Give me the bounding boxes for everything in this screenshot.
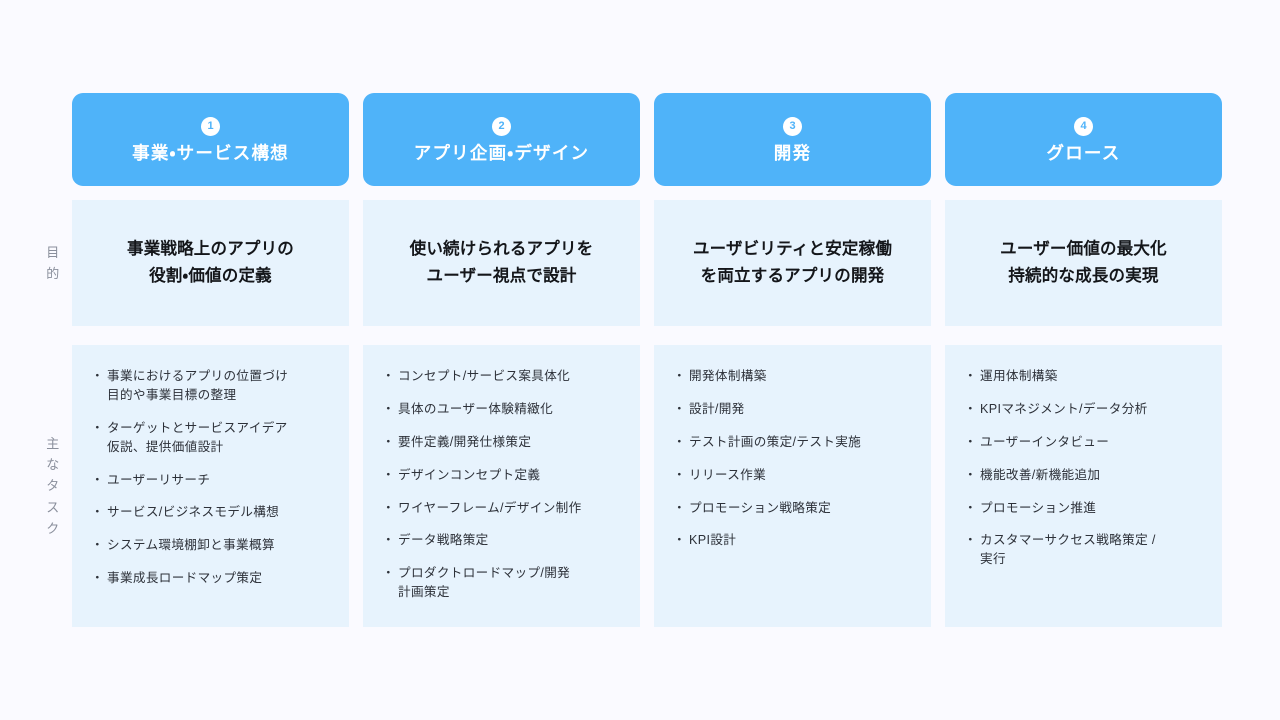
- phase-column-3: 3 開発 ユーザビリティと安定稼働 を両立するアプリの開発 開発体制構築 設計/…: [654, 0, 931, 720]
- tasks-panel-4: 運用体制構築 KPIマネジメント/データ分析 ユーザーインタビュー 機能改善/新…: [945, 345, 1222, 627]
- task-item: ターゲットとサービスアイデア 仮説、提供価値設計: [94, 419, 331, 457]
- task-item: データ戦略策定: [385, 531, 622, 550]
- purpose-panel-2: 使い続けられるアプリを ユーザー視点で設計: [363, 200, 640, 326]
- task-item: 事業におけるアプリの位置づけ 目的や事業目標の整理: [94, 367, 331, 405]
- task-item: プロダクトロードマップ/開発 計画策定: [385, 564, 622, 602]
- row-label-tasks-text: 主なタスク: [46, 433, 60, 538]
- phase-title-1: 事業・サービス構想: [132, 143, 289, 164]
- tasks-panel-2: コンセプト/サービス案具体化 具体のユーザー体験精緻化 要件定義/開発仕様策定 …: [363, 345, 640, 627]
- task-item: ユーザーリサーチ: [94, 471, 331, 490]
- phase-number-badge-1: 1: [201, 117, 220, 136]
- task-item: 設計/開発: [676, 400, 913, 419]
- task-list-4: 運用体制構築 KPIマネジメント/データ分析 ユーザーインタビュー 機能改善/新…: [967, 367, 1204, 569]
- phase-title-3: 開発: [774, 143, 811, 164]
- task-item: 具体のユーザー体験精緻化: [385, 400, 622, 419]
- process-board: 目的 主なタスク 1 事業・サービス構想 事業戦略上のアプリの 役割・価値の定義…: [0, 0, 1280, 720]
- purpose-panel-1: 事業戦略上のアプリの 役割・価値の定義: [72, 200, 349, 326]
- purpose-text-4: ユーザー価値の最大化 持続的な成長の実現: [1000, 236, 1167, 289]
- task-item: デザインコンセプト定義: [385, 466, 622, 485]
- phase-header-1[interactable]: 1 事業・サービス構想: [72, 93, 349, 186]
- task-item: 事業成長ロードマップ策定: [94, 569, 331, 588]
- phase-number-badge-2: 2: [492, 117, 511, 136]
- row-label-purpose: 目的: [40, 200, 66, 326]
- phase-number-badge-3: 3: [783, 117, 802, 136]
- purpose-panel-3: ユーザビリティと安定稼働 を両立するアプリの開発: [654, 200, 931, 326]
- phase-header-2[interactable]: 2 アプリ企画・デザイン: [363, 93, 640, 186]
- task-item: カスタマーサクセス戦略策定 / 実行: [967, 531, 1204, 569]
- task-item: 機能改善/新機能追加: [967, 466, 1204, 485]
- task-item: テスト計画の策定/テスト実施: [676, 433, 913, 452]
- purpose-text-1: 事業戦略上のアプリの 役割・価値の定義: [127, 236, 294, 289]
- tasks-panel-3: 開発体制構築 設計/開発 テスト計画の策定/テスト実施 リリース作業 プロモーシ…: [654, 345, 931, 627]
- task-item: 運用体制構築: [967, 367, 1204, 386]
- task-item: リリース作業: [676, 466, 913, 485]
- task-item: ワイヤーフレーム/デザイン制作: [385, 499, 622, 518]
- purpose-panel-4: ユーザー価値の最大化 持続的な成長の実現: [945, 200, 1222, 326]
- task-item: プロモーション推進: [967, 499, 1204, 518]
- task-list-2: コンセプト/サービス案具体化 具体のユーザー体験精緻化 要件定義/開発仕様策定 …: [385, 367, 622, 602]
- phase-header-3[interactable]: 3 開発: [654, 93, 931, 186]
- phase-number-badge-4: 4: [1074, 117, 1093, 136]
- task-item: サービス/ビジネスモデル構想: [94, 503, 331, 522]
- task-list-1: 事業におけるアプリの位置づけ 目的や事業目標の整理 ターゲットとサービスアイデア…: [94, 367, 331, 588]
- task-item: プロモーション戦略策定: [676, 499, 913, 518]
- phase-column-4: 4 グロース ユーザー価値の最大化 持続的な成長の実現 運用体制構築 KPIマネ…: [945, 0, 1222, 720]
- task-list-3: 開発体制構築 設計/開発 テスト計画の策定/テスト実施 リリース作業 プロモーシ…: [676, 367, 913, 550]
- phase-title-4: グロース: [1047, 143, 1121, 164]
- purpose-text-2: 使い続けられるアプリを ユーザー視点で設計: [410, 236, 594, 289]
- row-label-purpose-text: 目的: [46, 242, 60, 284]
- purpose-text-3: ユーザビリティと安定稼働 を両立するアプリの開発: [693, 236, 892, 289]
- task-item: コンセプト/サービス案具体化: [385, 367, 622, 386]
- phase-column-1: 1 事業・サービス構想 事業戦略上のアプリの 役割・価値の定義 事業におけるアプ…: [72, 0, 349, 720]
- task-item: KPI設計: [676, 531, 913, 550]
- task-item: システム環境棚卸と事業概算: [94, 536, 331, 555]
- phase-title-2: アプリ企画・デザイン: [414, 143, 589, 164]
- task-item: 要件定義/開発仕様策定: [385, 433, 622, 452]
- task-item: 開発体制構築: [676, 367, 913, 386]
- row-label-tasks: 主なタスク: [40, 345, 66, 627]
- phase-column-2: 2 アプリ企画・デザイン 使い続けられるアプリを ユーザー視点で設計 コンセプト…: [363, 0, 640, 720]
- phase-header-4[interactable]: 4 グロース: [945, 93, 1222, 186]
- task-item: ユーザーインタビュー: [967, 433, 1204, 452]
- tasks-panel-1: 事業におけるアプリの位置づけ 目的や事業目標の整理 ターゲットとサービスアイデア…: [72, 345, 349, 627]
- task-item: KPIマネジメント/データ分析: [967, 400, 1204, 419]
